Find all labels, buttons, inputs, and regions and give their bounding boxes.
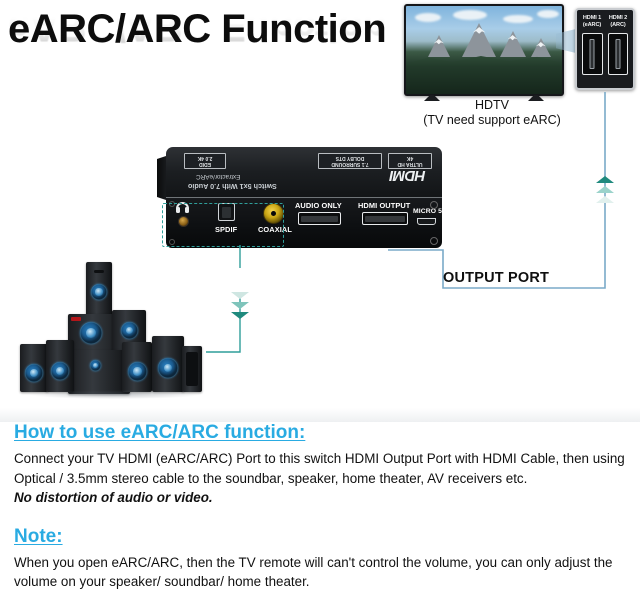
speaker-satellite-2: [46, 340, 74, 392]
speaker-satellite-1: [20, 344, 48, 392]
speaker-shadow: [30, 390, 200, 399]
how-to-heading: How to use eARC/ARC function:: [14, 422, 626, 444]
speaker-satellite-3: [122, 342, 152, 392]
page-title-reflection: eARC/ARC Function: [8, 4, 398, 50]
speaker-remote-unit: [182, 346, 202, 392]
hdmi-port-icon: [608, 33, 629, 75]
speaker-console: [68, 350, 130, 394]
hdmi1-label: HDMI 1 (eARC): [580, 15, 604, 28]
how-to-emphasis: No distortion of audio or video.: [14, 488, 626, 508]
device-model-line2: Extractor/eARC: [196, 173, 240, 180]
edid-badge: EDID 2.0 4K: [184, 153, 226, 169]
device-model-line1: Switch 5x1 With 7.0 Audio: [188, 182, 277, 191]
speaker-tower-top: [86, 262, 112, 318]
tv-screen: [406, 6, 562, 94]
speaker-satellite-4: [152, 336, 184, 392]
hdtv-caption-line2: (TV need support eARC): [400, 113, 584, 128]
hdmi-output-label: HDMI OUTPUT: [358, 201, 410, 210]
tv-bezel: [404, 4, 564, 96]
hdtv-caption: HDTV (TV need support eARC): [400, 98, 584, 128]
note-block: Note: When you open eARC/ARC, then the T…: [0, 508, 640, 592]
section-divider: [0, 408, 640, 422]
hdtv-illustration: [404, 4, 564, 96]
audio-only-label: AUDIO ONLY: [295, 201, 342, 210]
device-top-face: EDID 2.0 4K 7.1 SURROUND DOLBY DTS ULTRA…: [166, 147, 442, 199]
micro-usb-icon: [417, 218, 436, 225]
instructions-section: How to use eARC/ARC function: Connect yo…: [0, 422, 640, 592]
tv-foreground-forest: [406, 52, 562, 94]
note-paragraph: When you open eARC/ARC, then the TV remo…: [14, 553, 626, 592]
hdmi2-label: HDMI 2 (ARC): [606, 15, 630, 28]
tv-hdmi-port-panel: HDMI 1 (eARC) HDMI 2 (ARC): [575, 8, 635, 90]
output-port-callout: OUTPUT PORT: [443, 270, 549, 286]
micro-5v-label: MICRO 5V: [413, 208, 447, 215]
audio-format-badge: 7.1 SURROUND DOLBY DTS: [318, 153, 382, 169]
page-title-block: eARC/ARC Function eARC/ARC Function: [8, 6, 398, 92]
audio-output-group-highlight: [162, 203, 284, 247]
hdmi-port-icon: [362, 212, 408, 225]
device-hdmi-logo: HDMI: [390, 167, 426, 184]
hdmi-port-icon: [298, 212, 341, 225]
note-heading: Note:: [14, 526, 626, 548]
hdtv-caption-line1: HDTV: [400, 98, 584, 113]
how-to-block: How to use eARC/ARC function: Connect yo…: [0, 422, 640, 508]
hdmi-port-icon: [582, 33, 603, 75]
home-theater-speakers: [12, 262, 208, 398]
how-to-paragraph: Connect your TV HDMI (eARC/ARC) Port to …: [14, 449, 626, 488]
